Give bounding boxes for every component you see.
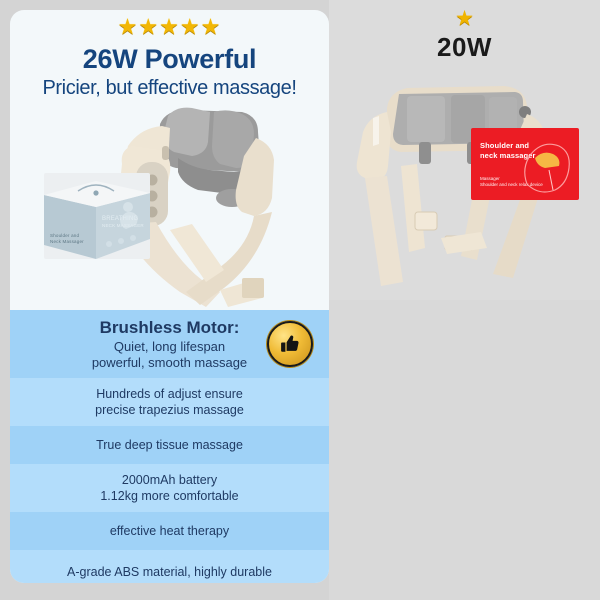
left-retail-box: BREATHING NECK MASSAGER Shoulder and Nec…	[44, 173, 150, 259]
right-product-pane: ★ 20W	[329, 0, 600, 600]
row-line: True deep tissue massage	[96, 437, 243, 453]
left-wattage-label: 26W Powerful	[10, 43, 329, 75]
row-line: A-grade ABS material, highly durable	[67, 564, 272, 580]
star-icon: ★	[201, 14, 222, 39]
left-header: ★★★★★ 26W Powerful Pricier, but effectiv…	[10, 14, 329, 101]
star-rating: ★★★★★	[10, 14, 329, 43]
row-line: 1.12kg more comfortable	[100, 488, 238, 504]
row-line: precise trapezius massage	[95, 402, 244, 418]
row-line: effective heat therapy	[110, 523, 229, 539]
table-row: 2000mAh battery 1.12kg more comfortable	[10, 464, 329, 512]
right-wattage-label: 20W	[329, 32, 600, 62]
star-icon: ★	[118, 14, 139, 39]
left-product-card: ★★★★★ 26W Powerful Pricier, but effectiv…	[10, 10, 329, 583]
left-feature-rows: Brushless Motor: Quiet, long lifespan po…	[10, 310, 329, 583]
row-line: 2000mAh battery	[100, 472, 238, 488]
table-row: True deep tissue massage	[10, 426, 329, 464]
row-line: powerful, smooth massage	[92, 355, 247, 371]
table-row: Hundreds of adjust ensure precise trapez…	[10, 378, 329, 426]
table-row: A-grade ABS material, highly durable	[10, 550, 329, 583]
carton-desc-text: Shoulder and Neck Massager	[50, 233, 90, 245]
table-row: effective heat therapy	[10, 512, 329, 550]
row-title: Brushless Motor:	[92, 317, 247, 339]
right-retail-box: Shoulder and neck massager Massager Shou…	[471, 128, 579, 200]
table-row: Brushless Motor: Quiet, long lifespan po…	[10, 310, 329, 378]
carton-brand-text: BREATHING	[102, 216, 138, 222]
retail-box-graphic	[515, 134, 575, 198]
thumbs-up-icon	[267, 321, 313, 367]
star-icon: ★	[180, 14, 201, 39]
right-hero-area: ★ 20W	[329, 0, 600, 300]
star-icon: ★	[138, 14, 159, 39]
thumbs-up-glyph	[278, 332, 302, 356]
comparison-infographic: ★ 20W	[0, 0, 600, 600]
left-subheadline: Pricier, but effective massage!	[10, 75, 329, 101]
row-line: Hundreds of adjust ensure	[95, 386, 244, 402]
carton-product-text: NECK MASSAGER	[102, 223, 144, 229]
star-icon: ★	[159, 14, 180, 39]
right-header: ★ 20W	[329, 8, 600, 62]
star-icon: ★	[329, 8, 600, 30]
row-line: Quiet, long lifespan	[92, 339, 247, 355]
